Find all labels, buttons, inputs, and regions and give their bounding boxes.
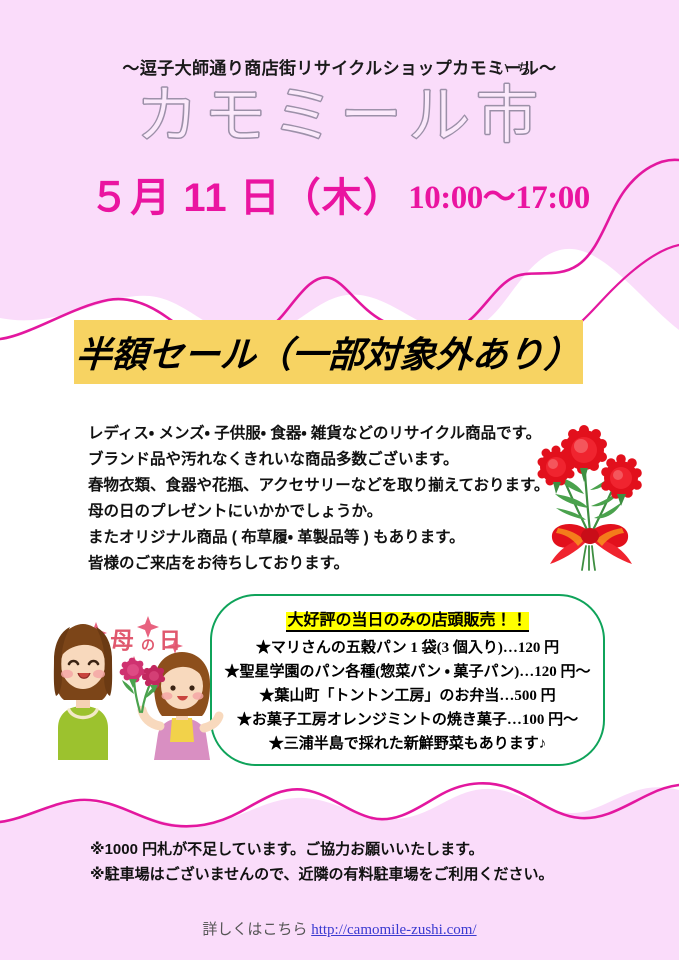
daily-sales-box: 大好評の当日のみの店頭販売！！ ★マリさんの五穀パン 1 袋(3 個入り)…12… bbox=[210, 594, 605, 766]
body-copy: レディス・ メンズ・ 子供服・ 食器・ 雑貨などのリサイクル商品です。 ブランド… bbox=[88, 424, 548, 580]
event-time: 10:00～17:00 bbox=[408, 180, 589, 216]
sale-banner: 半額セール（一部対象外あり） bbox=[74, 320, 583, 384]
shop-name-line: ～逗子大師通り商店街リサイクルショップカモミール～ bbox=[0, 54, 679, 79]
body-copy-line: レディス・ メンズ・ 子供服・ 食器・ 雑貨などのリサイクル商品です。 bbox=[88, 424, 548, 444]
footer-link-row: 詳しくはこちら http://camomile-zushi.com/ bbox=[0, 918, 679, 939]
list-item: ★聖星学園のパン各種(惣菜パン ・ 菓子パン)…120 円～ bbox=[212, 660, 603, 684]
mothers-day-illustration: 母 の 日 bbox=[36, 600, 226, 760]
svg-text:日: 日 bbox=[159, 628, 181, 653]
body-copy-line: 皆様のご来店をお待ちしております。 bbox=[88, 554, 548, 574]
page-title: カモミール市 いち bbox=[136, 78, 544, 154]
list-item: ★葉山町「トントン工房」のお弁当…500 円 bbox=[212, 684, 603, 708]
website-link[interactable]: http://camomile-zushi.com/ bbox=[311, 922, 476, 938]
list-item: ★三浦半島で採れた新鮮野菜もあります♪ bbox=[212, 732, 603, 756]
flyer-page: ～逗子大師通り商店街リサイクルショップカモミール～ カモミール市 いち ５月 1… bbox=[0, 0, 679, 960]
event-date-line: ５月 11 日（木） 10:00～17:00 bbox=[0, 165, 679, 223]
svg-text:の: の bbox=[141, 637, 155, 653]
daily-sales-heading-text: 大好評の当日のみの店頭販売！！ bbox=[286, 612, 528, 632]
body-copy-line: 春物衣類、食器や花瓶、アクセサリーなどを取り揃えております。 bbox=[88, 476, 548, 496]
mother-figure bbox=[54, 624, 112, 760]
page-title-text: カモミール市 bbox=[136, 81, 544, 151]
footer-note-line: ※1000 円札が不足しています。ご協力お願いいたします。 bbox=[90, 840, 590, 860]
body-copy-line: ブランド品や汚れなくきれいな商品多数ございます。 bbox=[88, 450, 548, 470]
sale-banner-text: 半額セール（一部対象外あり） bbox=[75, 326, 582, 378]
list-item: ★マリさんの五穀パン 1 袋(3 個入り)…120 円 bbox=[212, 636, 603, 660]
mothers-day-text: 母 bbox=[111, 627, 134, 653]
footer-note-line: ※駐車場はございませんので、近隣の有料駐車場をご利用ください。 bbox=[90, 865, 590, 885]
event-date: ５月 11 日（木） bbox=[89, 176, 404, 220]
body-copy-line: 母の日のプレゼントにいかかでしょうか。 bbox=[88, 502, 548, 522]
daily-sales-heading: 大好評の当日のみの店頭販売！！ bbox=[212, 606, 603, 630]
title-furigana: いち bbox=[494, 62, 538, 77]
carnation-bouquet-illustration bbox=[528, 420, 660, 572]
daily-sales-list: ★マリさんの五穀パン 1 袋(3 個入り)…120 円 ★聖星学園のパン各種(惣… bbox=[212, 636, 603, 756]
title-block: カモミール市 いち bbox=[0, 78, 679, 158]
footer-notes: ※1000 円札が不足しています。ご協力お願いいたします。 ※駐車場はございませ… bbox=[90, 840, 590, 890]
body-copy-line: またオリジナル商品 ( 布草履・ 革製品等 ) もあります。 bbox=[88, 528, 548, 548]
list-item: ★お菓子工房オレンジミントの焼き菓子…100 円～ bbox=[212, 708, 603, 732]
footer-link-prefix: 詳しくはこちら bbox=[202, 922, 311, 938]
